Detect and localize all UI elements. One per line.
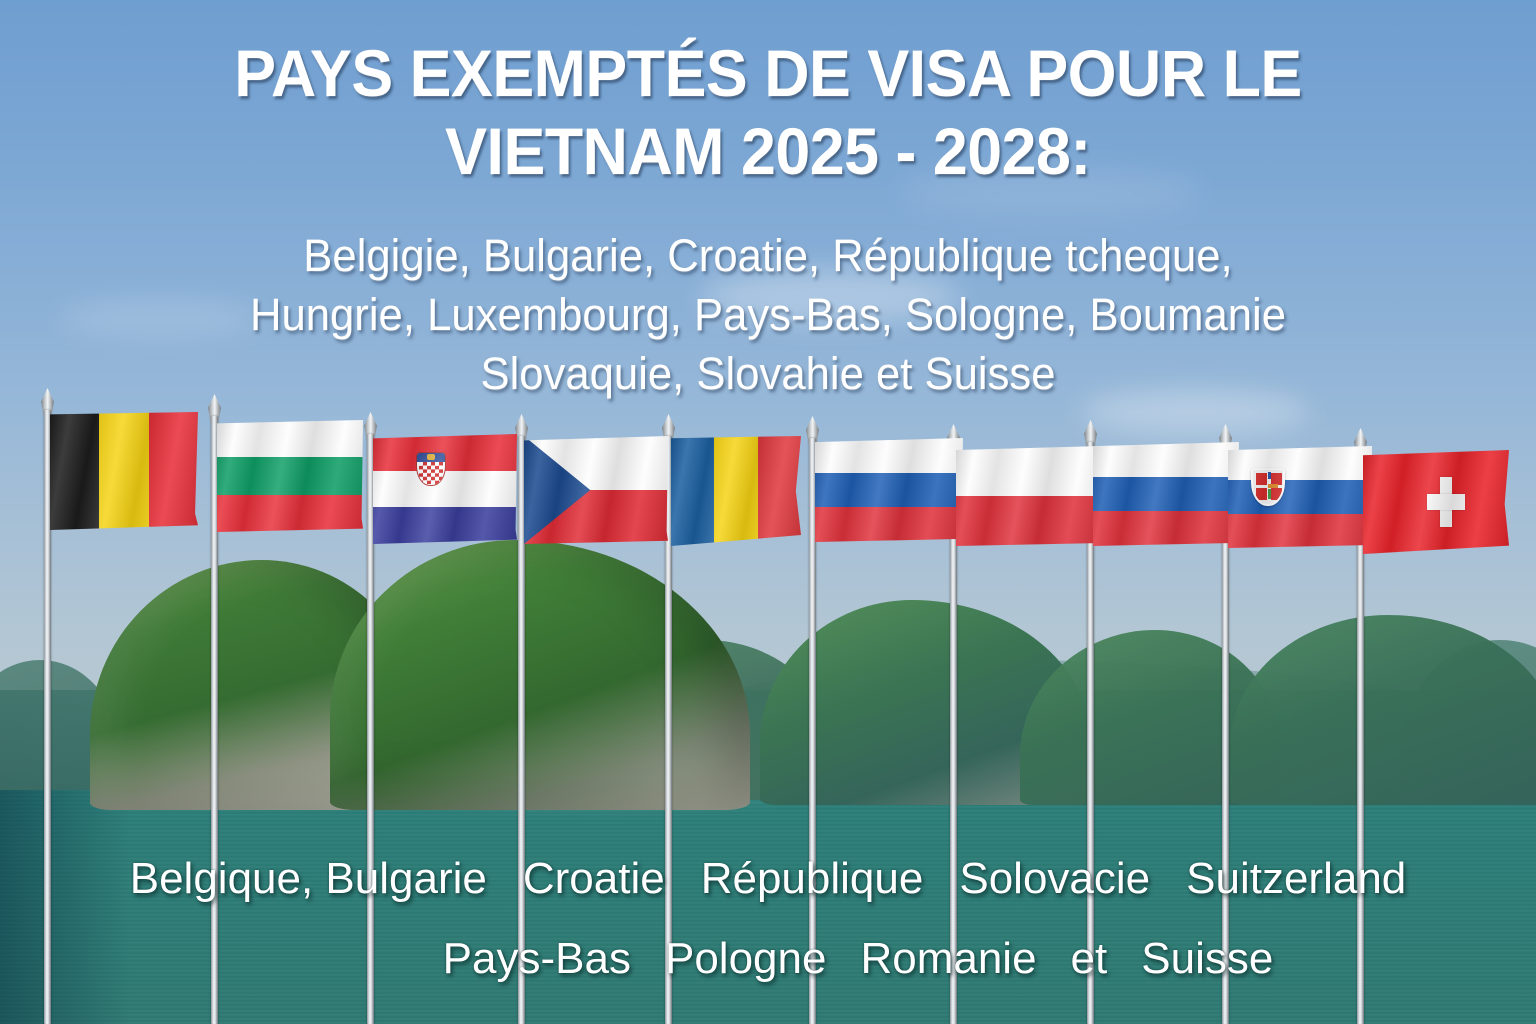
czech-republic-flag bbox=[524, 436, 668, 544]
headline-line-2: VIETNAM 2025 - 2028: bbox=[38, 112, 1497, 190]
belgium-flag bbox=[50, 412, 198, 530]
headline-line-1: PAYS EXEMPTÉS DE VISA POUR LE bbox=[38, 34, 1497, 112]
flag-captions: Belgique, Bulgarie Croatie République So… bbox=[0, 848, 1536, 990]
caption-item: Pologne bbox=[665, 928, 826, 990]
subhead-line-1: Belgigie, Bulgarie, Croatie, République … bbox=[23, 226, 1513, 285]
netherlands-flag bbox=[815, 438, 963, 542]
karst-island-right bbox=[1230, 615, 1536, 805]
caption-item: Suisse bbox=[1141, 928, 1273, 990]
swiss-cross-icon bbox=[1427, 477, 1465, 527]
poster-root: PAYS EXEMPTÉS DE VISA POUR LE VIETNAM 20… bbox=[0, 0, 1536, 1024]
subhead-line-3: Slovaquie, Slovahie et Suisse bbox=[23, 344, 1513, 403]
caption-item: Pays-Bas bbox=[443, 928, 631, 990]
page-title: PAYS EXEMPTÉS DE VISA POUR LE VIETNAM 20… bbox=[38, 34, 1497, 190]
caption-item: Romanie bbox=[860, 928, 1036, 990]
caption-item: et bbox=[1071, 928, 1108, 990]
croatia-flag bbox=[373, 434, 517, 544]
caption-row-2: Pays-Bas Pologne Romanie et Suisse bbox=[0, 928, 1536, 990]
slovenia-flag bbox=[1093, 442, 1239, 546]
karst-island-main-center bbox=[330, 540, 750, 810]
caption-item: Belgique, Bulgarie bbox=[130, 848, 487, 910]
country-list-subtitle: Belgigie, Bulgarie, Croatie, République … bbox=[23, 226, 1513, 403]
caption-item: Solovacie bbox=[959, 848, 1150, 910]
romania-flag bbox=[671, 436, 801, 546]
caption-item: Suitzerland bbox=[1186, 848, 1406, 910]
switzerland-flag bbox=[1363, 450, 1509, 554]
slovakia-flag bbox=[1228, 446, 1372, 548]
subhead-line-2: Hungrie, Luxembourg, Pays-Bas, Sologne, … bbox=[23, 285, 1513, 344]
croatian-coat-of-arms-icon bbox=[416, 452, 446, 486]
caption-item: République bbox=[701, 848, 924, 910]
bulgaria-flag bbox=[217, 420, 363, 532]
caption-row-1: Belgique, Bulgarie Croatie République So… bbox=[0, 848, 1536, 910]
caption-item: Croatie bbox=[523, 848, 665, 910]
poland-flag bbox=[956, 446, 1102, 546]
